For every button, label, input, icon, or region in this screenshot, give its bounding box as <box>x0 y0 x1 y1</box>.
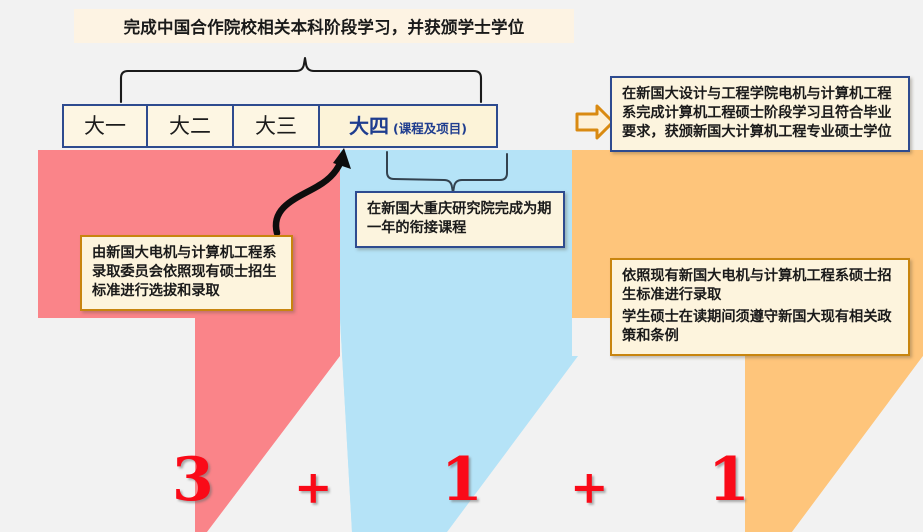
top-banner: 完成中国合作院校相关本科阶段学习，并获颁学士学位 <box>74 9 574 43</box>
year-label-3: 大三 <box>255 106 297 146</box>
academic-year-row: 大一 大二 大三 大四 (课程及项目) <box>62 104 498 148</box>
callout-selection-committee-line-1: 由新国大电机与计算机工程系录取委员会依照现有硕士招生标准进行选拔和录取 <box>92 244 282 301</box>
callout-selection-committee: 由新国大电机与计算机工程系录取委员会依照现有硕士招生标准进行选拔和录取 <box>80 235 293 311</box>
year-cell-1[interactable]: 大一 <box>64 106 148 146</box>
slide-canvas: 完成中国合作院校相关本科阶段学习，并获颁学士学位 大一 大二 大三 大四 (课程… <box>0 0 923 532</box>
top-brace-icon <box>121 58 481 102</box>
top-banner-text: 完成中国合作院校相关本科阶段学习，并获颁学士学位 <box>124 14 525 38</box>
callout-admission-policy: 依照现有新国大电机与计算机工程系硕士招生标准进行录取 学生硕士在读期间须遵守新国… <box>610 258 910 356</box>
year-label-1: 大一 <box>84 106 126 146</box>
year-label-4: 大四 <box>349 106 389 146</box>
right-arrow-icon[interactable] <box>577 106 613 138</box>
callout-admission-policy-line-2: 学生硕士在读期间须遵守新国大现有相关政策和条例 <box>622 308 899 346</box>
callout-masters-degree-line-1: 在新国大设计与工程学院电机与计算机工程系完成计算机工程硕士阶段学习且符合毕业要求… <box>622 85 899 142</box>
year-label-2: 大二 <box>169 106 211 146</box>
callout-masters-degree: 在新国大设计与工程学院电机与计算机工程系完成计算机工程硕士阶段学习且符合毕业要求… <box>610 76 910 152</box>
pink-tail-notch-left <box>38 318 195 532</box>
callout-bridging-course: 在新国大重庆研究院完成为期一年的衔接课程 <box>355 191 565 248</box>
callout-bridging-course-line-1: 在新国大重庆研究院完成为期一年的衔接课程 <box>367 200 554 238</box>
year-sublabel-4: (课程及项目) <box>393 109 467 149</box>
year-cell-2[interactable]: 大二 <box>148 106 234 146</box>
year-cell-4[interactable]: 大四 (课程及项目) <box>320 106 496 146</box>
callout-admission-policy-line-1: 依照现有新国大电机与计算机工程系硕士招生标准进行录取 <box>622 267 899 305</box>
year-cell-3[interactable]: 大三 <box>234 106 320 146</box>
